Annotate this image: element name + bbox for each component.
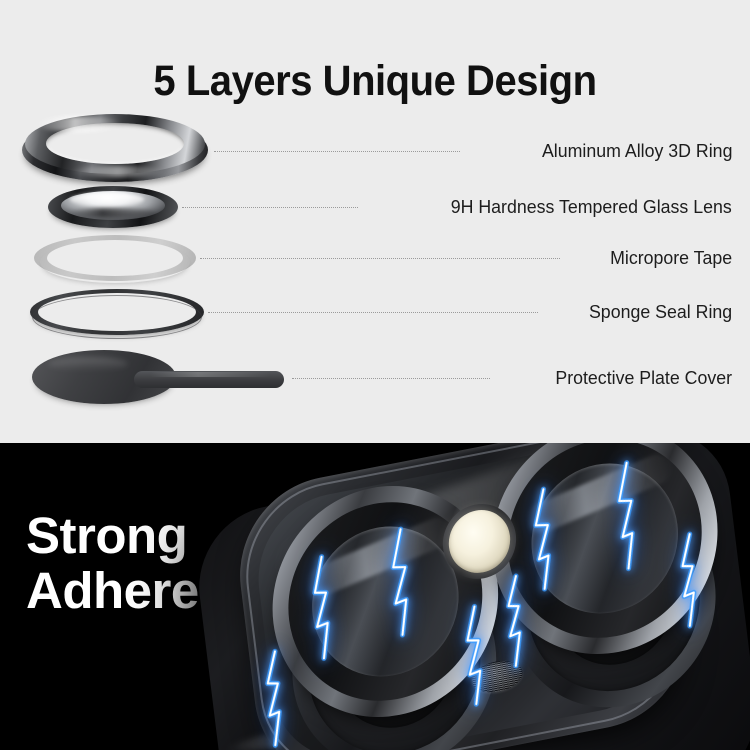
page-title: 5 Layers Unique Design: [26, 57, 724, 106]
layer-label-micropore-tape: Micropore Tape: [610, 247, 732, 269]
layer-art-protective-plate-cover: [32, 350, 292, 406]
layers-diagram-panel: 5 Layers Unique Design Aluminum Alloy 3D…: [0, 0, 750, 443]
layer-art-tempered-glass-lens: [48, 186, 178, 232]
layer-art-aluminum-alloy-3d-ring: [22, 118, 208, 190]
phone-camera-illustration: [176, 443, 750, 750]
leader-line-tempered-glass-lens: [182, 207, 358, 208]
layer-label-aluminum-alloy-3d-ring: Aluminum Alloy 3D Ring: [541, 140, 732, 162]
headline: Strong Adhere: [26, 508, 199, 618]
layer-label-sponge-seal-ring: Sponge Seal Ring: [589, 301, 732, 323]
leader-line-micropore-tape: [200, 258, 560, 259]
headline-line-1: Strong: [26, 508, 199, 563]
strong-adhere-panel: Strong Adhere: [0, 443, 750, 750]
leader-line-protective-plate-cover: [292, 378, 490, 379]
leader-line-sponge-seal-ring: [208, 312, 538, 313]
layer-label-protective-plate-cover: Protective Plate Cover: [555, 367, 732, 389]
layer-label-tempered-glass-lens: 9H Hardness Tempered Glass Lens: [451, 196, 732, 218]
product-infographic: 5 Layers Unique Design Aluminum Alloy 3D…: [0, 0, 750, 750]
layer-art-micropore-tape: [34, 235, 196, 285]
leader-line-aluminum-alloy-3d-ring: [214, 151, 460, 152]
layer-art-sponge-seal-ring: [30, 289, 204, 341]
headline-line-2: Adhere: [26, 563, 199, 618]
